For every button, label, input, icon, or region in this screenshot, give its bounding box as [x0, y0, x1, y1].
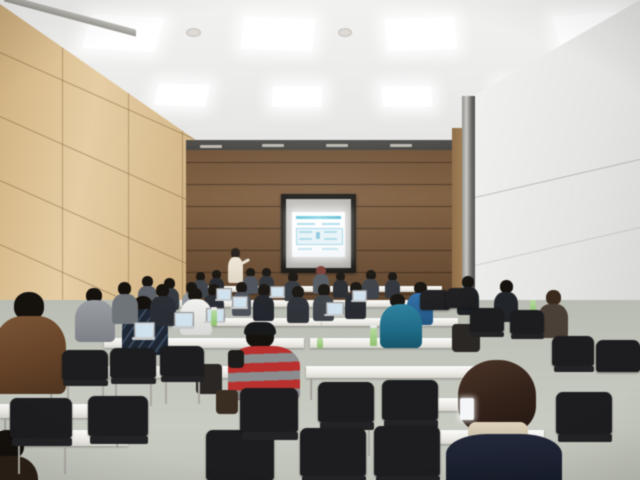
ceiling-speaker: [338, 28, 352, 37]
sprinkler: [262, 113, 267, 116]
drink-bottle: [211, 310, 217, 326]
sprinkler: [396, 65, 402, 69]
ceiling-light-panel: [271, 86, 322, 107]
bottle-cap: [530, 297, 536, 300]
black-cap: [244, 322, 276, 335]
bag: [216, 390, 238, 414]
projected-slide: [292, 212, 345, 257]
seminar-room-photograph: Seminar room with seated audience facing…: [0, 0, 640, 480]
ceiling-light-panel: [384, 17, 457, 51]
slide-title-bar: [296, 216, 341, 219]
ceiling-light-panel: [381, 86, 432, 107]
smartphone[interactable]: [460, 398, 474, 420]
table-leg: [310, 378, 312, 400]
screen-mat: [286, 199, 351, 268]
bottle-cap: [211, 307, 217, 310]
table: [306, 366, 476, 378]
ceiling-light-panel: [240, 17, 315, 52]
bag: [228, 350, 244, 368]
sprinkler: [150, 66, 156, 70]
projection-screen: [281, 194, 356, 273]
ceiling-light-panel: [154, 83, 210, 107]
drink-bottle: [317, 338, 323, 348]
slide-icon: [316, 232, 320, 239]
sprinkler: [273, 66, 279, 70]
bottle-cap: [370, 325, 377, 328]
drink-bottle: [370, 328, 377, 346]
ceiling-speaker: [186, 28, 201, 37]
sprinkler: [375, 113, 380, 116]
